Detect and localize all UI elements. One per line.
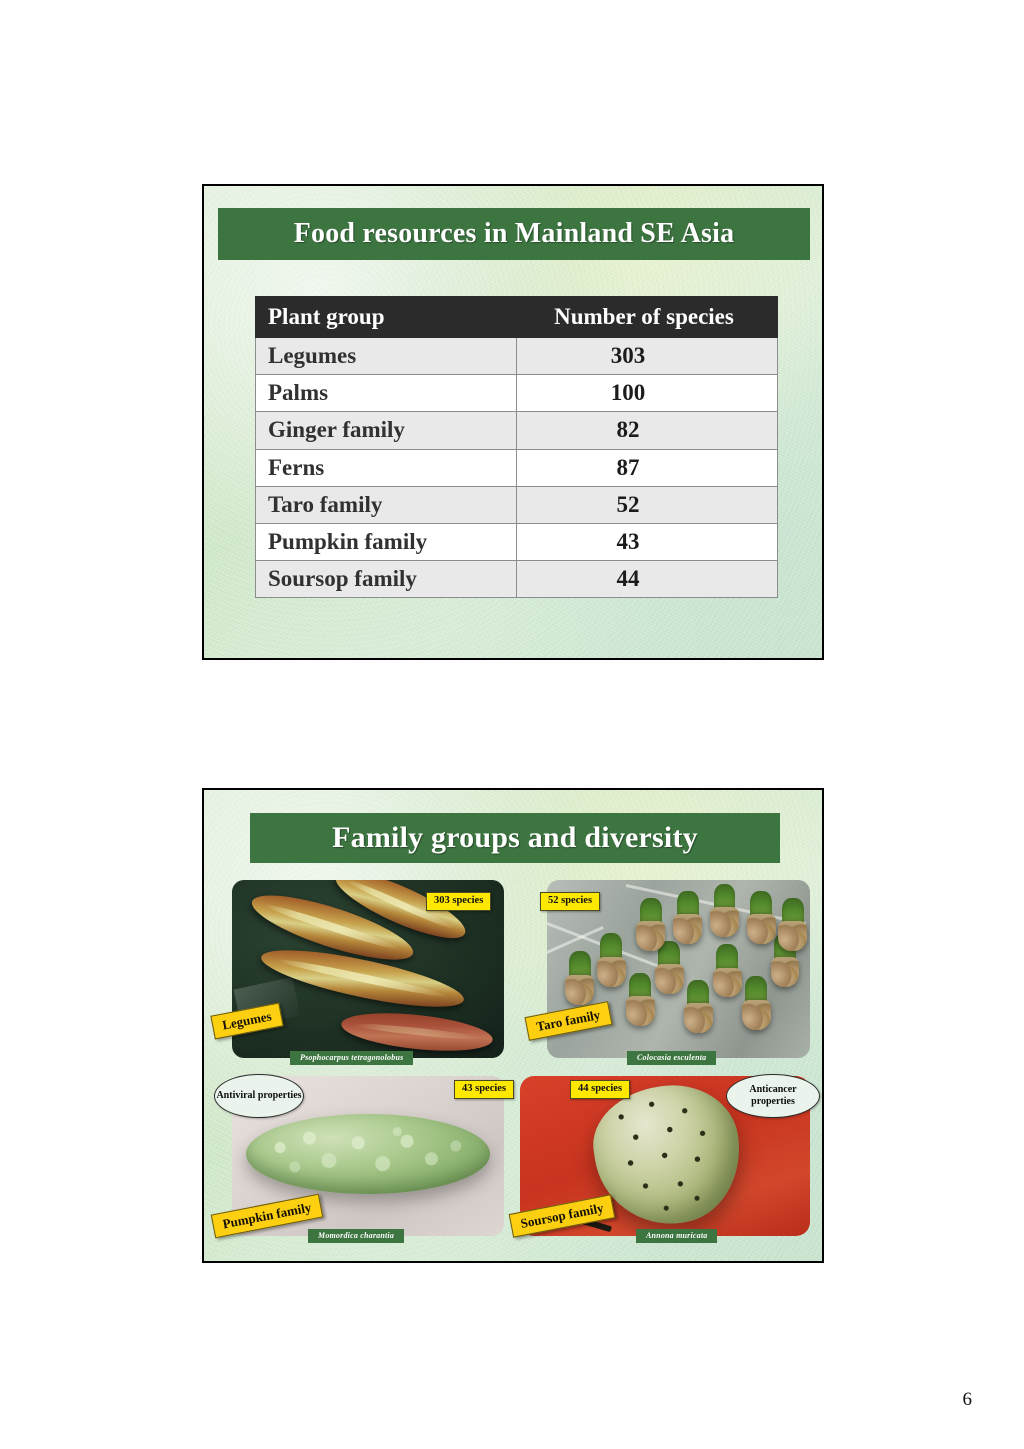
cell-species-count: 43 [517, 523, 778, 560]
table-row: Legumes 303 [256, 338, 778, 375]
cell-plant-group: Ferns [256, 449, 517, 486]
table-row: Ferns 87 [256, 449, 778, 486]
cell-species-count: 44 [517, 560, 778, 597]
bitter-gourd-fruit [246, 1114, 491, 1194]
taro-bundle [673, 891, 702, 944]
slide-family-groups-diversity: Family groups and diversity Psophocarpus… [202, 788, 824, 1263]
species-badge-taro: 52 species [540, 892, 600, 911]
winged-bean-pod [339, 1007, 494, 1057]
table-row: Pumpkin family 43 [256, 523, 778, 560]
cell-plant-group: Pumpkin family [256, 523, 517, 560]
table-header-number-of-species: Number of species [517, 297, 778, 338]
property-oval-antiviral: Antiviral properties [214, 1074, 304, 1118]
taro-bundle [713, 944, 742, 997]
taro-bundle [710, 884, 739, 937]
species-badge-pumpkin: 43 species [454, 1080, 514, 1099]
latin-caption-pumpkin: Momordica charantia [308, 1229, 404, 1243]
taro-bundle [747, 891, 776, 944]
cell-species-count: 100 [517, 375, 778, 412]
cell-plant-group: Palms [256, 375, 517, 412]
cell-species-count: 52 [517, 486, 778, 523]
taro-bundle [597, 933, 626, 986]
cell-plant-group: Legumes [256, 338, 517, 375]
page-number: 6 [963, 1389, 973, 1411]
latin-caption-legumes: Psophocarpus tetragonolobus [290, 1051, 413, 1065]
cell-plant-group: Soursop family [256, 560, 517, 597]
table-header-row: Plant group Number of species [256, 297, 778, 338]
cell-species-count: 87 [517, 449, 778, 486]
property-oval-anticancer: Anticancer properties [726, 1074, 820, 1118]
cell-species-count: 303 [517, 338, 778, 375]
taro-bundle [636, 898, 665, 951]
slide-1-title: Food resources in Mainland SE Asia [218, 208, 810, 260]
taro-bundle [742, 976, 771, 1029]
photo-grid: Psophocarpus tetragonolobus 303 species … [204, 876, 822, 1261]
slide-2-title: Family groups and diversity [250, 813, 780, 863]
table-row: Taro family 52 [256, 486, 778, 523]
taro-bundle [778, 898, 807, 951]
species-table: Plant group Number of species Legumes 30… [255, 296, 778, 598]
table-row: Soursop family 44 [256, 560, 778, 597]
taro-bundle [565, 951, 594, 1004]
cell-plant-group: Taro family [256, 486, 517, 523]
taro-bundle [626, 973, 655, 1026]
table-row: Ginger family 82 [256, 412, 778, 449]
cell-plant-group: Ginger family [256, 412, 517, 449]
cell-species-count: 82 [517, 412, 778, 449]
taro-bundle [684, 980, 713, 1033]
latin-caption-soursop: Annona muricata [636, 1229, 717, 1243]
table-header-plant-group: Plant group [256, 297, 517, 338]
species-badge-legumes: 303 species [426, 892, 491, 911]
latin-caption-taro: Colocasia esculenta [627, 1051, 716, 1065]
slide-food-resources: Food resources in Mainland SE Asia Plant… [202, 184, 824, 660]
table-row: Palms 100 [256, 375, 778, 412]
species-badge-soursop: 44 species [570, 1080, 630, 1099]
